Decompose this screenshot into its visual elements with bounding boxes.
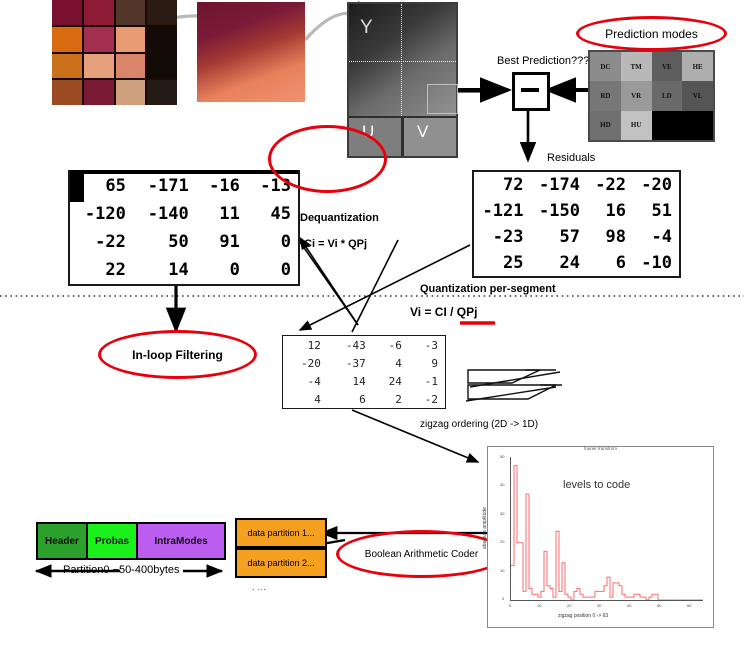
prediction-mode-cell: RD xyxy=(590,81,621,110)
data-partition-label: data partition 1... xyxy=(247,528,314,538)
matrix-cell: -4 xyxy=(633,224,679,250)
table-row: -121 -150 16 51 xyxy=(474,198,679,224)
prediction-mode-label: VL xyxy=(693,92,703,100)
matrix-cell: -23 xyxy=(474,224,531,250)
matrix-cell: -150 xyxy=(531,198,588,224)
matrix-cell: 51 xyxy=(633,198,679,224)
chart-ytick: 20 xyxy=(500,539,504,544)
matrix-cell: -22 xyxy=(70,228,133,256)
minus-glyph xyxy=(521,88,539,92)
prediction-mode-cell: DC xyxy=(590,52,621,81)
partition0-container: Header Probas IntraModes xyxy=(36,522,226,560)
chart-title: fourier transform xyxy=(488,446,713,451)
prediction-mode-label: HU xyxy=(631,121,642,129)
matrix-cell: 6 xyxy=(328,390,373,408)
chart-ytick: 10 xyxy=(500,568,504,573)
matrix-cell: -43 xyxy=(328,336,373,354)
table-row: 25 24 6 -10 xyxy=(474,250,679,276)
chart-xtick: 10 xyxy=(537,603,541,608)
selected-subblock xyxy=(427,84,458,114)
data-partition-1: data partition 1... xyxy=(235,518,327,548)
prediction-mode-label: LD xyxy=(662,92,672,100)
reconstruction-callout-ellipse xyxy=(268,125,387,193)
best-prediction-label: Best Prediction??? xyxy=(497,55,589,67)
matrix-cell: 6 xyxy=(587,250,633,276)
matrix-cell: 11 xyxy=(196,200,247,228)
matrix-cell: 4 xyxy=(283,390,328,408)
matrix-cell: 45 xyxy=(247,200,298,228)
matrix-cell: 16 xyxy=(587,198,633,224)
prediction-mode-label: VR xyxy=(631,92,641,100)
chart-xtick: 30 xyxy=(597,603,601,608)
matrix-cell: -20 xyxy=(283,354,328,372)
partition0-span-label: Partition0 −50-400bytes xyxy=(63,564,180,576)
matrix-cell: 0 xyxy=(247,256,298,284)
bitstream-block-label: Header xyxy=(45,536,79,547)
prediction-mode-cell: HU xyxy=(621,111,652,140)
matrix-cell: -22 xyxy=(587,172,633,198)
dequantization-label: Dequantization xyxy=(300,212,379,224)
matrix-cell: -16 xyxy=(196,172,247,200)
matrix-cell: -120 xyxy=(70,200,133,228)
matrix-cell: 98 xyxy=(587,224,633,250)
boolean-coder-label: Boolean Arithmetic Coder xyxy=(365,549,478,560)
chart-annotation: levels to code xyxy=(563,479,630,491)
inloop-filtering-label: In-loop Filtering xyxy=(132,348,223,362)
matrix-cell: -1 xyxy=(409,372,445,390)
dc-marker xyxy=(70,172,84,202)
chart-xtick: 50 xyxy=(657,603,661,608)
matrix-cell: 24 xyxy=(531,250,588,276)
chart-ytick: 40 xyxy=(500,482,504,487)
prediction-mode-cell xyxy=(652,111,683,140)
levels-histogram-chart: fourier transform 50 40 30 20 10 0 0 10 … xyxy=(487,446,714,628)
partitions-ellipsis: . ... xyxy=(252,582,266,593)
matrix-cell: -2 xyxy=(409,390,445,408)
matrix-cell: 0 xyxy=(196,256,247,284)
prediction-mode-cell: VL xyxy=(682,81,713,110)
prediction-mode-cell: TM xyxy=(621,52,652,81)
quantization-label: Quantization per-segment xyxy=(420,283,556,295)
chart-xtick: 0 xyxy=(509,603,511,608)
matrix-top-bar xyxy=(70,170,298,174)
chart-ytick: 50 xyxy=(500,454,504,459)
residuals-label: Residuals xyxy=(547,152,595,164)
matrix-cell: 12 xyxy=(283,336,328,354)
table-row: 22 14 0 0 xyxy=(70,256,298,284)
matrix-cell: -171 xyxy=(133,172,196,200)
table-row: -23 57 98 -4 xyxy=(474,224,679,250)
y-plane-label: Y xyxy=(360,17,373,39)
prediction-mode-label: DC xyxy=(600,63,610,71)
chart-xlabel: zigzag position 0 -> 63 xyxy=(558,613,608,619)
data-partition-label: data partition 2... xyxy=(247,558,314,568)
table-row: -22 50 91 0 xyxy=(70,228,298,256)
inloop-filtering-ellipse: In-loop Filtering xyxy=(98,330,257,379)
matrix-cell: -140 xyxy=(133,200,196,228)
bitstream-block-header: Header xyxy=(38,524,88,558)
zoomed-macroblock xyxy=(197,2,305,102)
subtract-node xyxy=(512,72,550,111)
data-partition-2: data partition 2... xyxy=(235,548,327,578)
chart-ytick: 30 xyxy=(500,511,504,516)
prediction-mode-label: HE xyxy=(693,63,703,71)
matrix-cell: -10 xyxy=(633,250,679,276)
table-row: -20 -37 4 9 xyxy=(283,354,445,372)
prediction-mode-label: TM xyxy=(630,63,641,71)
matrix-cell: 57 xyxy=(531,224,588,250)
quantized-matrix: 12 -43 -6 -3 -20 -37 4 9 -4 14 24 -1 4 6… xyxy=(282,335,446,409)
matrix-cell: 25 xyxy=(474,250,531,276)
table-row: 72 -174 -22 -20 xyxy=(474,172,679,198)
chart-xtick: 40 xyxy=(627,603,631,608)
bitstream-block-label: Probas xyxy=(95,536,129,547)
prediction-mode-cell: VR xyxy=(621,81,652,110)
coefficients-matrix: 65 -171 -16 -13 -120 -140 11 45 -22 50 9… xyxy=(68,170,300,286)
prediction-mode-label: HD xyxy=(600,121,611,129)
matrix-cell: 24 xyxy=(373,372,409,390)
v-plane xyxy=(404,118,456,156)
matrix-cell: -37 xyxy=(328,354,373,372)
bitstream-block-label: IntraModes xyxy=(154,536,207,547)
prediction-mode-cell: LD xyxy=(652,81,683,110)
v-plane-label: V xyxy=(417,122,428,142)
table-row: -4 14 24 -1 xyxy=(283,372,445,390)
table-row: -120 -140 11 45 xyxy=(70,200,298,228)
table-row: 4 6 2 -2 xyxy=(283,390,445,408)
matrix-cell: -174 xyxy=(531,172,588,198)
bitstream-block-intramodes: IntraModes xyxy=(138,524,224,558)
residuals-matrix: 72 -174 -22 -20 -121 -150 16 51 -23 57 9… xyxy=(472,170,681,278)
matrix-cell: -20 xyxy=(633,172,679,198)
chart-xtick: 60 xyxy=(687,603,691,608)
matrix-cell: 14 xyxy=(133,256,196,284)
prediction-modes-grid: DC TM VE HE RD VR LD VL HD HU xyxy=(588,50,715,142)
prediction-mode-cell xyxy=(682,111,713,140)
prediction-mode-label: RD xyxy=(600,92,610,100)
matrix-cell: -4 xyxy=(283,372,328,390)
quantization-formula: Vi = CI / QPj xyxy=(410,305,477,319)
chart-ylabel: absolute amplitude xyxy=(482,507,488,549)
matrix-cell: -121 xyxy=(474,198,531,224)
matrix-cell: 72 xyxy=(474,172,531,198)
bitstream-block-probas: Probas xyxy=(88,524,138,558)
matrix-cell: -3 xyxy=(409,336,445,354)
matrix-cell: 14 xyxy=(328,372,373,390)
prediction-mode-cell: VE xyxy=(652,52,683,81)
plane-divider-horizontal xyxy=(349,61,456,62)
matrix-cell: 22 xyxy=(70,256,133,284)
dequantization-formula: Ci = Vi * QPj xyxy=(304,238,367,250)
matrix-cell: 2 xyxy=(373,390,409,408)
zigzag-ordering-label: zigzag ordering (2D -> 1D) xyxy=(420,419,538,430)
chart-xtick: 20 xyxy=(567,603,571,608)
matrix-cell: 9 xyxy=(409,354,445,372)
matrix-cell: 50 xyxy=(133,228,196,256)
matrix-cell: 91 xyxy=(196,228,247,256)
prediction-modes-callout: Prediction modes xyxy=(576,16,727,51)
prediction-mode-label: VE xyxy=(662,63,672,71)
source-frame-macroblock-grid xyxy=(52,0,177,105)
matrix-cell: 4 xyxy=(373,354,409,372)
prediction-modes-caption: Prediction modes xyxy=(605,27,698,41)
table-row: 12 -43 -6 -3 xyxy=(283,336,445,354)
matrix-cell: 0 xyxy=(247,228,298,256)
matrix-cell: -6 xyxy=(373,336,409,354)
plane-divider-vertical xyxy=(401,4,402,116)
chart-ytick: 0 xyxy=(502,596,504,601)
prediction-mode-cell: HD xyxy=(590,111,621,140)
prediction-mode-cell: HE xyxy=(682,52,713,81)
table-row: 65 -171 -16 -13 xyxy=(70,172,298,200)
